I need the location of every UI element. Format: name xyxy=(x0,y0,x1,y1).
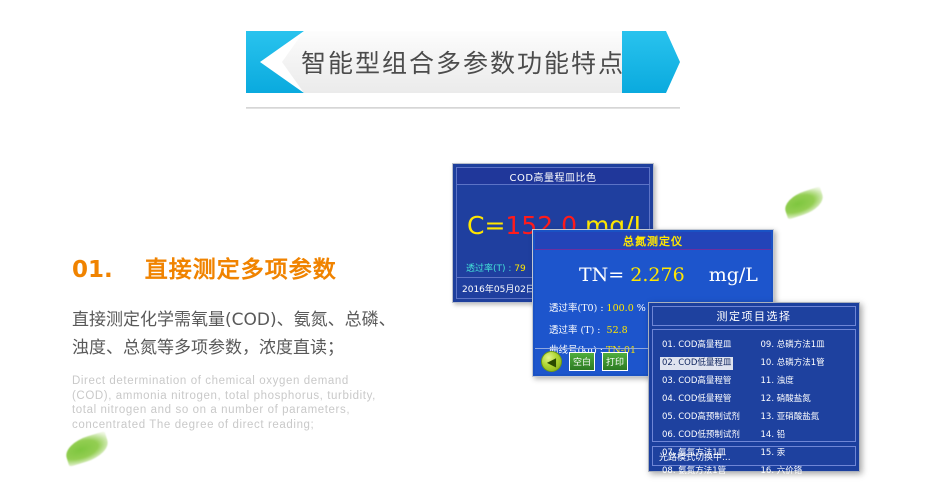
tn-t-value: 52.8 xyxy=(607,325,628,336)
tn-reading-value: 2.276 xyxy=(630,264,684,286)
list-item[interactable]: 12. 硝酸盐氮 xyxy=(761,393,811,406)
list-item[interactable]: 15. 汞 xyxy=(761,447,786,460)
measure-item-column-left: 01. COD高量程皿 02. COD低量程皿 03. COD高量程管 04. … xyxy=(653,334,757,441)
list-item[interactable]: 01. COD高量程皿 xyxy=(662,339,731,352)
list-item[interactable]: 13. 亚硝酸盐氮 xyxy=(761,411,820,424)
section-number: 01. xyxy=(72,257,113,283)
cod-screen-titlebar: COD高量程皿比色 xyxy=(456,167,650,185)
tn-reading: TN= 2.276 mg/L xyxy=(579,264,758,286)
select-screen-titlebar: 测定项目选择 xyxy=(652,306,856,326)
tn-t-label: 透过率 (T) : xyxy=(549,325,601,336)
tn-reading-prefix: TN= xyxy=(579,264,624,286)
cod-transmittance-row: 透过率(T) : 79 xyxy=(466,261,526,274)
list-item-selected[interactable]: 02. COD低量程皿 xyxy=(660,357,733,370)
measure-item-column-right: 09. 总磷方法1皿 10. 总磷方法1管 11. 浊度 12. 硝酸盐氮 13… xyxy=(757,334,856,441)
back-arrow-icon[interactable]: ◀ xyxy=(541,351,562,372)
list-item[interactable]: 06. COD低预制试剂 xyxy=(662,429,740,442)
measure-item-list[interactable]: 01. COD高量程皿 02. COD低量程皿 03. COD高量程管 04. … xyxy=(652,329,856,442)
list-item[interactable]: 04. COD低量程管 xyxy=(662,393,731,406)
select-screen-title: 测定项目选择 xyxy=(717,308,792,324)
banner-right-arrow-icon xyxy=(622,31,680,93)
banner-plate: 智能型组合多参数功能特点 xyxy=(282,31,644,93)
cod-transmittance-label: 透过率(T) : xyxy=(466,264,511,274)
leaf-decoration-icon xyxy=(782,186,827,219)
tn-t0-label: 透过率(T0) : xyxy=(549,303,604,314)
tn-t0-value: 100.0 xyxy=(607,303,634,314)
tn-t-row: 透过率 (T) : 52.8 xyxy=(549,322,628,336)
feature-text-block: 01. 直接测定多项参数 直接测定化学需氧量(COD)、氨氮、总磷、浊度、总氮等… xyxy=(72,250,412,432)
tn-t0-suffix: % xyxy=(637,303,646,314)
list-item[interactable]: 10. 总磷方法1管 xyxy=(761,357,825,370)
tn-screen-titlebar: 总氮测定仪 xyxy=(535,232,771,250)
tn-screen-title: 总氮测定仪 xyxy=(623,233,683,249)
section-english-text: Direct determination of chemical oxygen … xyxy=(72,374,392,432)
blank-button-label: 空白 xyxy=(573,355,591,368)
list-item[interactable]: 05. COD高预制试剂 xyxy=(662,411,740,424)
status-text: 光路模式切换中... xyxy=(659,450,731,463)
list-item[interactable]: 08. 氨氮方法1管 xyxy=(662,465,726,478)
back-arrow-glyph: ◀ xyxy=(547,356,556,368)
print-button[interactable]: 打印 xyxy=(602,352,628,371)
measure-item-select-screen: 测定项目选择 01. COD高量程皿 02. COD低量程皿 03. COD高量… xyxy=(648,302,860,472)
print-button-label: 打印 xyxy=(606,355,624,368)
list-item[interactable]: 14. 铅 xyxy=(761,429,786,442)
list-item[interactable]: 11. 浊度 xyxy=(761,375,794,388)
list-item[interactable]: 09. 总磷方法1皿 xyxy=(761,339,825,352)
cod-transmittance-value: 79 xyxy=(514,264,525,274)
section-body-text: 直接测定化学需氧量(COD)、氨氮、总磷、浊度、总氮等多项参数，浓度直读； xyxy=(72,306,402,362)
tn-reading-unit: mg/L xyxy=(709,264,758,286)
blank-button[interactable]: 空白 xyxy=(569,352,595,371)
section-heading-label: 直接测定多项参数 xyxy=(145,257,337,283)
cod-screen-title: COD高量程皿比色 xyxy=(509,169,596,184)
page-root: 智能型组合多参数功能特点 01. 直接测定多项参数 直接测定化学需氧量(COD)… xyxy=(0,0,927,492)
list-item[interactable]: 16. 六价铬 xyxy=(761,465,803,478)
list-item[interactable]: 03. COD高量程管 xyxy=(662,375,731,388)
cod-date-label: 2016年05月02日 xyxy=(462,282,535,295)
page-title: 智能型组合多参数功能特点 xyxy=(301,44,625,80)
cod-reading-prefix: C= xyxy=(467,211,505,240)
leaf-decoration-icon xyxy=(62,431,111,467)
banner-divider xyxy=(246,107,680,109)
section-heading: 01. 直接测定多项参数 xyxy=(72,250,412,284)
section-banner: 智能型组合多参数功能特点 xyxy=(246,31,680,93)
